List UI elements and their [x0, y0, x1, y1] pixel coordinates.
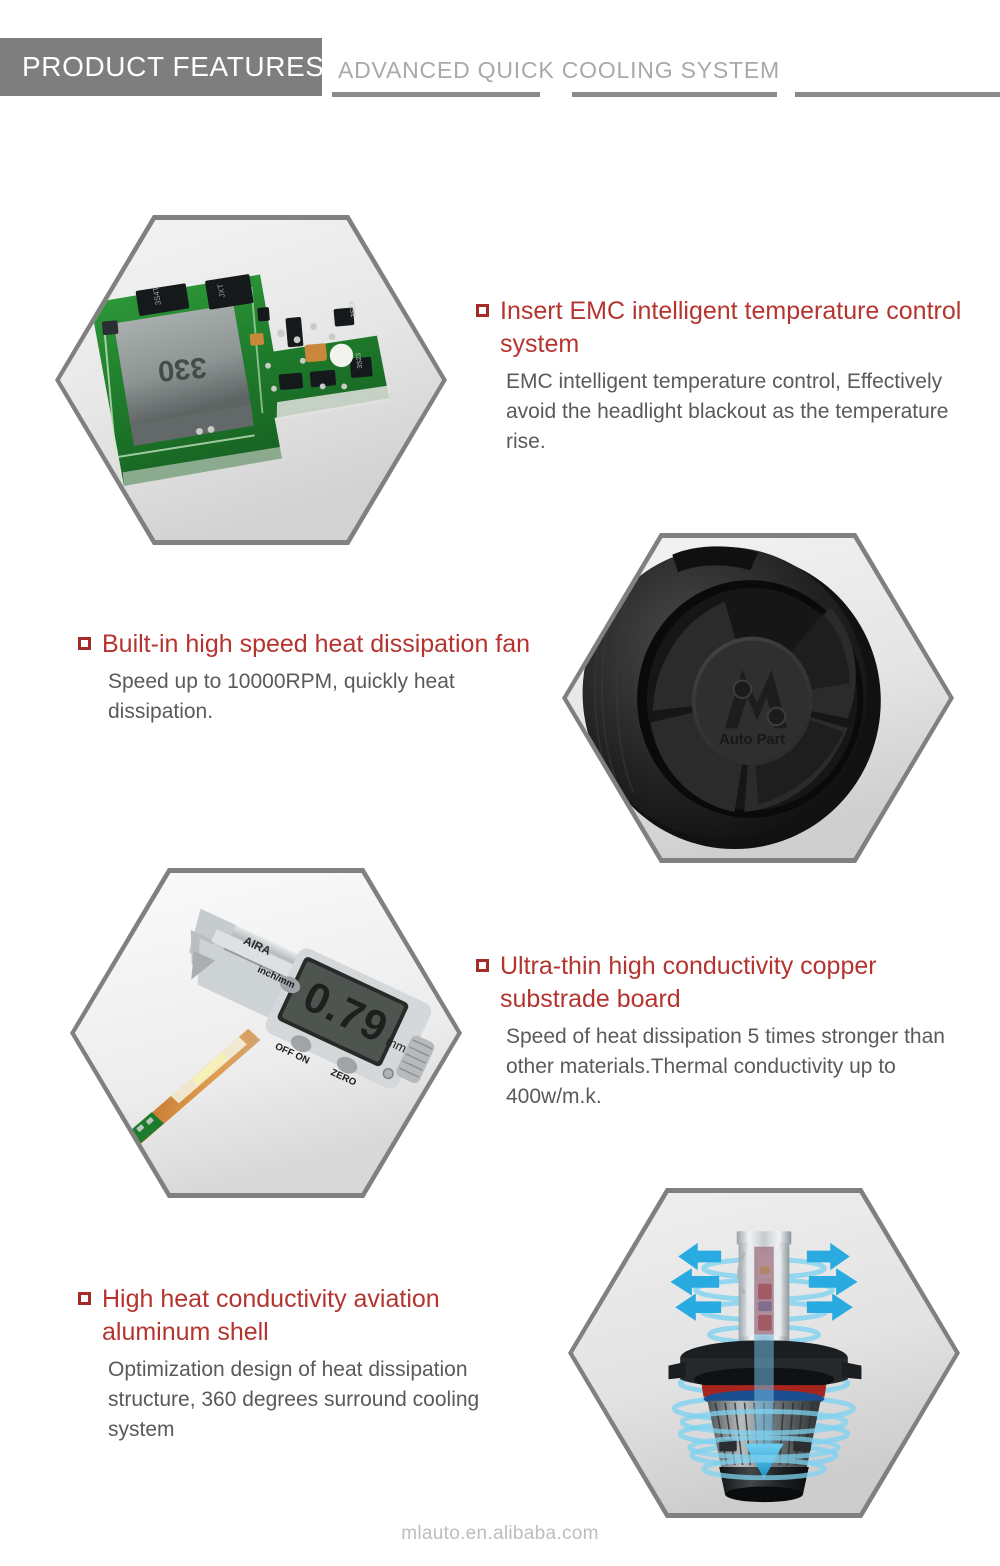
feature-image-pcb-driver-board-photo: 330 3S4T JXT 3S23 [55, 215, 447, 545]
header-rule-1 [332, 92, 540, 97]
feature-title: Ultra-thin high conductivity copper subs… [476, 950, 976, 1016]
pcb-photo-art: 330 3S4T JXT 3S23 [60, 220, 442, 540]
hex-image-clip: 0.79 mm inch/mm OFF ON ZERO AIRA [75, 873, 457, 1193]
feature-body: Optimization design of heat dissipation … [108, 1355, 548, 1445]
cooling-fan-art: Auto Part [567, 538, 949, 858]
square-bullet-icon [476, 959, 489, 972]
square-bullet-icon [476, 304, 489, 317]
feature-body: Speed up to 10000RPM, quickly heat dissi… [108, 667, 538, 727]
feature-title: High heat conductivity aviation aluminum… [78, 1283, 548, 1349]
svg-text:330: 330 [157, 351, 208, 387]
header-rule-3 [795, 92, 1000, 97]
feature-title: Built-in high speed heat dissipation fan [78, 628, 538, 661]
page-header: PRODUCT FEATURES ADVANCED QUICK COOLING … [0, 0, 1000, 120]
feature-body: EMC intelligent temperature control, Eff… [506, 367, 966, 457]
square-bullet-icon [78, 1292, 91, 1305]
footer-website-url: mlauto.en.alibaba.com [0, 1523, 1000, 1545]
hex-image-clip: Auto Part [567, 538, 949, 858]
square-bullet-icon [78, 637, 91, 650]
feature-image-cooling-fan-photo: Auto Part [562, 533, 954, 863]
header-subtitle: ADVANCED QUICK COOLING SYSTEM [338, 57, 780, 84]
feature-text-copper-substrate-board: Ultra-thin high conductivity copper subs… [476, 950, 976, 1112]
feature-body: Speed of heat dissipation 5 times strong… [506, 1022, 976, 1112]
hex-image-clip [573, 1193, 955, 1513]
page-title: PRODUCT FEATURES [0, 51, 325, 83]
hex-image-clip: 330 3S4T JXT 3S23 [60, 220, 442, 540]
svg-text:Auto Part: Auto Part [719, 732, 785, 748]
feature-image-led-bulb-airflow-diagram [568, 1188, 960, 1518]
feature-image-digital-caliper-photo: 0.79 mm inch/mm OFF ON ZERO AIRA [70, 868, 462, 1198]
led-bulb-art [573, 1193, 955, 1513]
feature-title: Insert EMC intelligent temperature contr… [476, 295, 966, 361]
caliper-art: 0.79 mm inch/mm OFF ON ZERO AIRA [75, 873, 457, 1193]
product-features-badge: PRODUCT FEATURES [0, 38, 322, 96]
feature-text-aviation-aluminum-shell: High heat conductivity aviation aluminum… [78, 1283, 548, 1445]
header-rule-2 [572, 92, 777, 97]
feature-text-emc-temperature-control: Insert EMC intelligent temperature contr… [476, 295, 966, 457]
feature-text-high-speed-fan: Built-in high speed heat dissipation fan… [78, 628, 538, 727]
